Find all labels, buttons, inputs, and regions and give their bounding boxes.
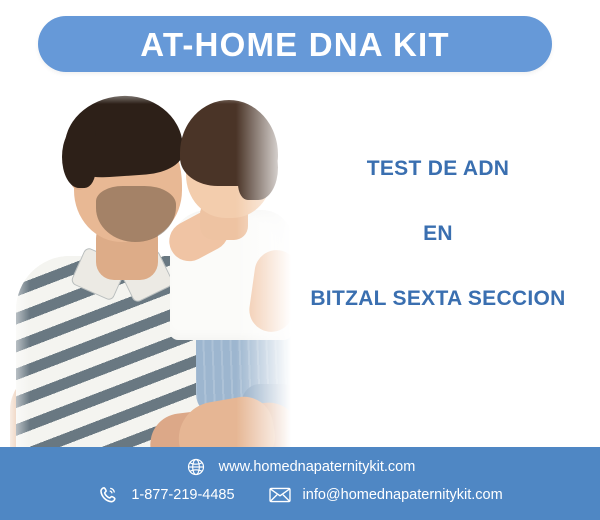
footer-row-website: www.homednapaternitykit.com xyxy=(0,456,600,478)
headline-line-1: TEST DE ADN xyxy=(288,158,588,179)
website-text: www.homednapaternitykit.com xyxy=(219,460,416,475)
email-contact-item[interactable]: info@homednapaternitykit.com xyxy=(269,484,503,506)
contact-footer: www.homednapaternitykit.com 1-877-219-44… xyxy=(0,447,600,520)
man-hair-side xyxy=(62,126,96,188)
headline-line-2: EN xyxy=(288,223,588,244)
globe-icon xyxy=(185,456,207,478)
envelope-icon xyxy=(269,484,291,506)
phone-text: 1-877-219-4485 xyxy=(131,488,234,503)
phone-contact-item[interactable]: 1-877-219-4485 xyxy=(97,484,234,506)
website-contact-item[interactable]: www.homednapaternitykit.com xyxy=(185,456,416,478)
family-photo xyxy=(0,78,300,460)
poster: AT-HOME DNA KIT xyxy=(0,0,600,520)
phone-icon xyxy=(97,484,119,506)
email-text: info@homednapaternitykit.com xyxy=(303,488,503,503)
family-photo-illustration xyxy=(0,78,300,460)
page-title: AT-HOME DNA KIT xyxy=(140,28,449,61)
photo-fade-left xyxy=(0,78,30,460)
headline-block: TEST DE ADN EN BITZAL SEXTA SECCION xyxy=(288,158,588,309)
title-banner: AT-HOME DNA KIT xyxy=(38,16,552,72)
headline-line-3: BITZAL SEXTA SECCION xyxy=(288,288,588,309)
footer-row-phone-email: 1-877-219-4485 info@homednapaternitykit.… xyxy=(0,484,600,506)
